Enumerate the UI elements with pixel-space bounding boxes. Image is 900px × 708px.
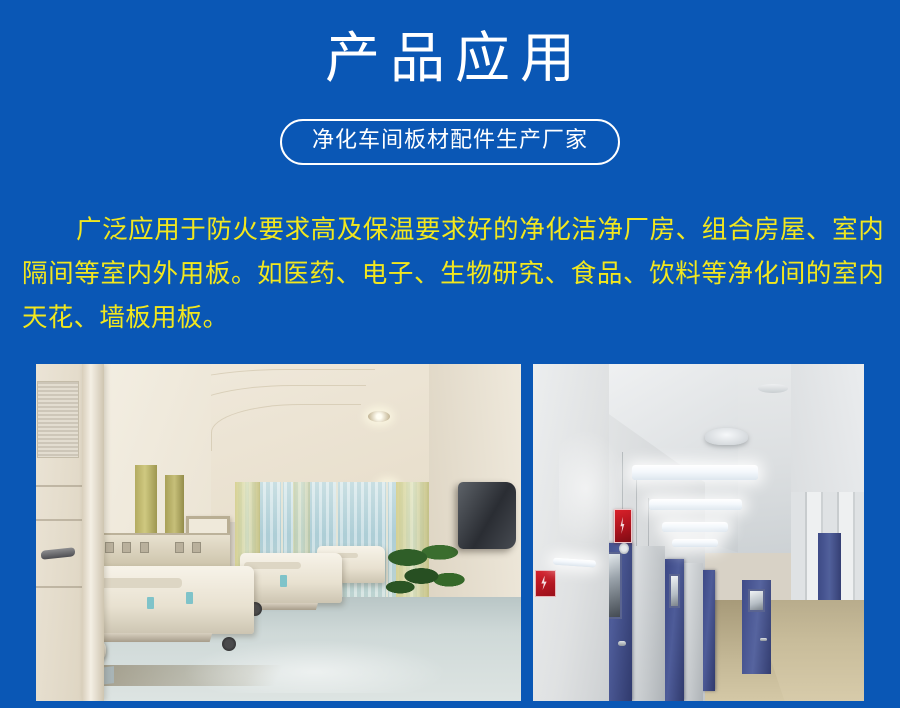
- fire-alarm-box-icon: [535, 570, 557, 597]
- door-viewing-window: [669, 574, 679, 608]
- wall-vent-panel: [37, 381, 78, 459]
- wall-outlet: [122, 542, 131, 553]
- cleanroom-door: [702, 570, 715, 691]
- gallery-image-hospital-ward: [36, 364, 521, 701]
- subtitle-container: 净化车间板材配件生产厂家: [0, 119, 900, 165]
- ceiling-fluorescent-lamp: [632, 465, 758, 480]
- subtitle-badge: 净化车间板材配件生产厂家: [280, 119, 620, 165]
- bed-head-wall-unit: [85, 533, 231, 567]
- wall-outlet: [175, 542, 184, 553]
- cleanroom-door-end-of-hall: [742, 580, 772, 674]
- product-application-page: 产品应用 净化车间板材配件生产厂家 广泛应用于防火要求高及保温要求好的净化洁净厂…: [0, 0, 900, 708]
- ceiling-fluorescent-lamp: [649, 499, 742, 510]
- bed-tag: [280, 575, 287, 587]
- fire-alarm-box-icon: [614, 509, 632, 543]
- door-gray-leaf: [684, 563, 704, 701]
- image-gallery: [36, 364, 864, 701]
- floor-reflection: [182, 640, 449, 692]
- ceiling-fluorescent-lamp: [662, 522, 728, 531]
- description-paragraph: 广泛应用于防火要求高及保温要求好的净化洁净厂房、组合房屋、室内隔间等室内外用板。…: [22, 208, 884, 340]
- wall-outlet: [192, 542, 201, 553]
- ceiling-light-diffuser: [705, 428, 748, 445]
- gallery-image-cleanroom-corridor: [533, 364, 864, 701]
- door-viewing-window: [748, 589, 765, 612]
- hospital-bed: [240, 553, 342, 604]
- wall-mounted-tv: [458, 482, 516, 549]
- door-handle: [760, 638, 767, 641]
- bed-tag: [147, 597, 154, 609]
- door-handle: [618, 641, 626, 646]
- cleanroom-door: [665, 559, 683, 701]
- door-gray-leaf: [632, 546, 665, 701]
- page-title: 产品应用: [0, 22, 900, 94]
- wall-outlet: [105, 542, 114, 553]
- wall-outlet: [140, 542, 149, 553]
- ceiling-fluorescent-lamp: [672, 539, 718, 546]
- ceiling-air-vent: [758, 384, 788, 393]
- bed-tag: [186, 592, 193, 604]
- door-frame: [82, 364, 104, 701]
